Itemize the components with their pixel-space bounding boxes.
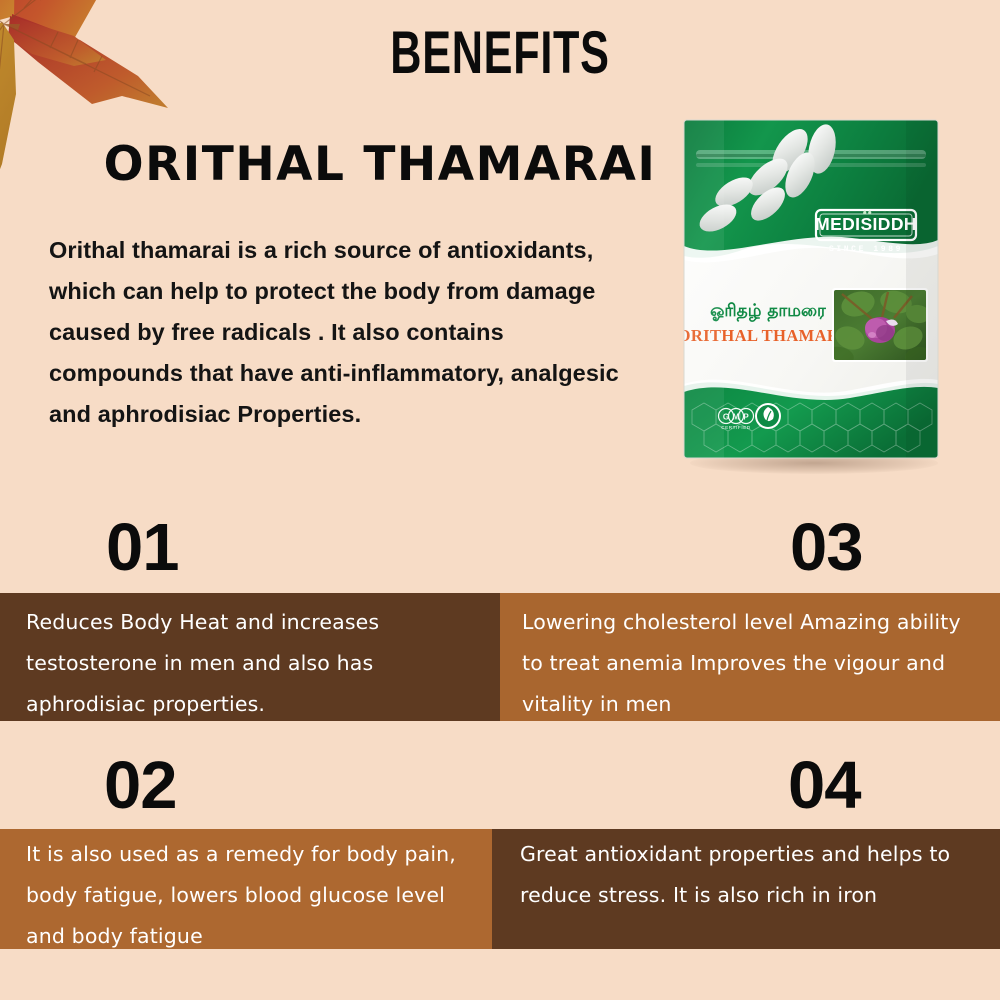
- benefit-number-02: 02: [104, 752, 177, 819]
- benefit-text-01: Reduces Body Heat and increases testoste…: [26, 602, 482, 725]
- benefit-block-04: Great antioxidant properties and helps t…: [492, 829, 1000, 949]
- benefit-number-04: 04: [788, 752, 861, 819]
- benefit-text-03: Lowering cholesterol level Amazing abili…: [522, 602, 982, 725]
- benefits-poster: BENEFITS ORITHAL THAMARAI Orithal thamar…: [0, 0, 1000, 1000]
- svg-text:SINCE 1989: SINCE 1989: [829, 245, 903, 254]
- product-title: ORITHAL THAMARAI: [0, 139, 760, 191]
- benefit-block-01: Reduces Body Heat and increases testoste…: [0, 593, 500, 721]
- benefit-number-01: 01: [106, 514, 179, 581]
- svg-text:M: M: [733, 413, 740, 422]
- page-title: BENEFITS: [140, 22, 860, 84]
- benefit-block-03: Lowering cholesterol level Amazing abili…: [500, 593, 1000, 721]
- svg-text:ஓரிதழ் தாமரை: ஓரிதழ் தாமரை: [710, 301, 826, 321]
- svg-text:MEDISIDDH: MEDISIDDH: [815, 214, 917, 234]
- benefit-block-02: It is also used as a remedy for body pai…: [0, 829, 492, 949]
- benefit-text-02: It is also used as a remedy for body pai…: [26, 834, 482, 957]
- intro-paragraph: Orithal thamarai is a rich source of ant…: [49, 230, 639, 435]
- svg-text:CERTIFIED: CERTIFIED: [721, 425, 751, 430]
- product-package-image: MEDISIDDH SINCE 1989 ஓரிதழ் தாமரை ORITHA…: [682, 118, 940, 460]
- benefit-number-03: 03: [790, 514, 863, 581]
- svg-text:P: P: [743, 413, 749, 422]
- benefit-text-04: Great antioxidant properties and helps t…: [520, 834, 982, 916]
